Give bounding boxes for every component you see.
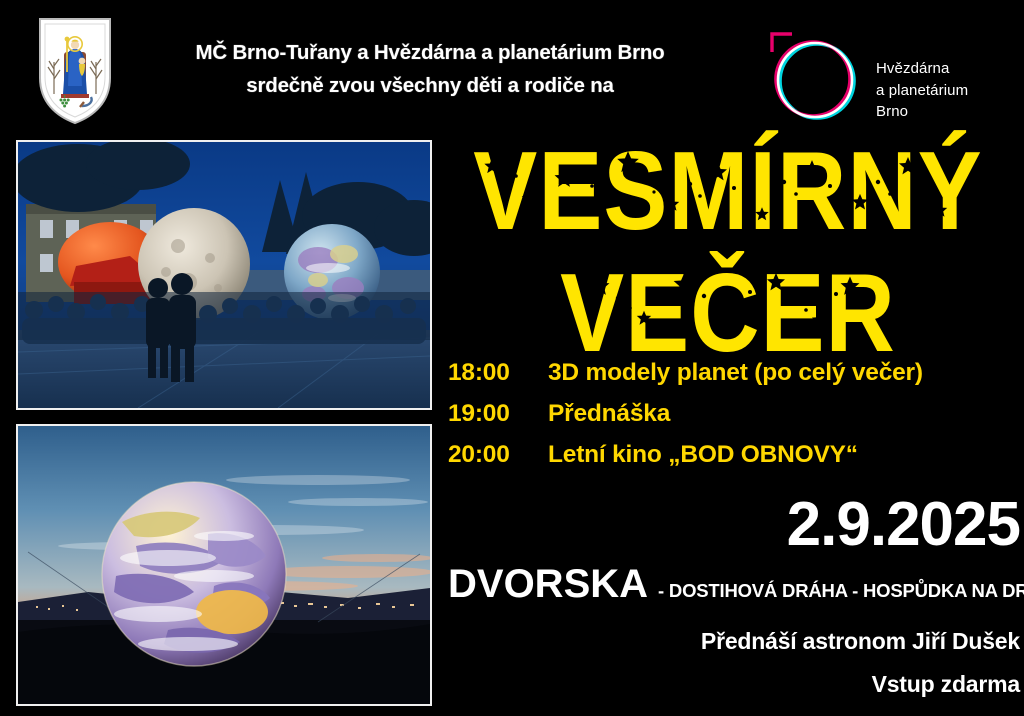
program-label: Letní kino „BOD OBNOVY“ — [548, 434, 1024, 475]
program-row: 20:00 Letní kino „BOD OBNOVY“ — [448, 434, 1024, 475]
poster-title: VESMÍRNÝ VEČER — [432, 126, 1024, 348]
venue-detail: - DOSTIHOVÁ DRÁHA - HOSPŮDKA NA DRÁZE — [658, 569, 1024, 613]
header-line-2: srdečně zvou všechny děti a rodiče na — [120, 69, 740, 102]
admission-line: Vstup zdarma — [432, 663, 1020, 706]
program-row: 18:00 3D modely planet (po celý večer) — [448, 352, 1024, 393]
program-label: Přednáška — [548, 393, 1024, 434]
photo-earth-globe-sunset — [16, 424, 432, 706]
lecturer-line: Přednáší astronom Jiří Dušek — [432, 620, 1020, 663]
program-time: 20:00 — [448, 434, 548, 475]
photo-planet-models-crowd — [16, 140, 432, 410]
planetarium-circle-logo-icon — [762, 28, 866, 128]
planetarium-logo: Hvězdárna a planetárium Brno — [762, 28, 1002, 128]
venue-block: DVORSKA - DOSTIHOVÁ DRÁHA - HOSPŮDKA NA … — [448, 562, 1024, 613]
logo-word-line-3: Brno — [876, 101, 968, 123]
header-line-1: MČ Brno-Tuřany a Hvězdárna a planetárium… — [120, 36, 740, 69]
title-line-1: VESMÍRNÝ — [432, 136, 1024, 247]
poster-header: MČ Brno-Tuřany a Hvězdárna a planetárium… — [0, 0, 1024, 132]
program-time: 19:00 — [448, 393, 548, 434]
event-date: 2.9.2025 — [432, 494, 1024, 556]
logo-word-line-1: Hvězdárna — [876, 58, 968, 80]
coat-of-arms-icon — [36, 16, 114, 126]
planetarium-logo-wordmark: Hvězdárna a planetárium Brno — [876, 58, 968, 123]
header-invitation-text: MČ Brno-Tuřany a Hvězdárna a planetárium… — [120, 36, 740, 102]
venue-name: DVORSKA — [448, 562, 648, 606]
logo-word-line-2: a planetárium — [876, 80, 968, 102]
poster-footer: Přednáší astronom Jiří Dušek Vstup zdarm… — [432, 620, 1024, 706]
program-label: 3D modely planet (po celý večer) — [548, 352, 1024, 393]
program-schedule: 18:00 3D modely planet (po celý večer) 1… — [448, 352, 1024, 475]
program-time: 18:00 — [448, 352, 548, 393]
program-row: 19:00 Přednáška — [448, 393, 1024, 434]
poster-canvas: MČ Brno-Tuřany a Hvězdárna a planetárium… — [0, 0, 1024, 716]
